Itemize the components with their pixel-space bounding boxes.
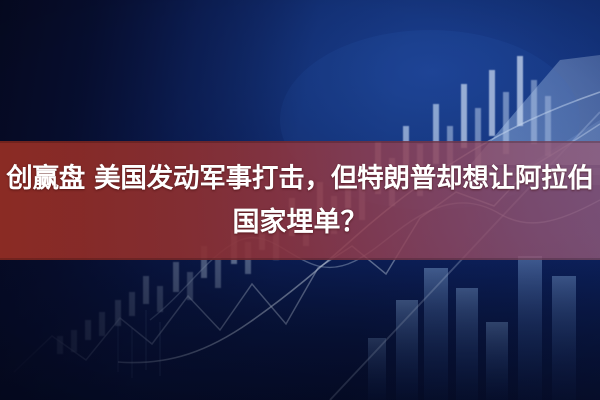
- headline-line-2: 国家埋单？: [233, 201, 368, 245]
- headline-line-1: 创赢盘 美国发动军事打击，但特朗普却想让阿拉伯: [6, 157, 594, 201]
- headline-text-block: 创赢盘 美国发动军事打击，但特朗普却想让阿拉伯 国家埋单？: [0, 141, 600, 260]
- news-thumbnail-banner: 创赢盘 美国发动军事打击，但特朗普却想让阿拉伯 国家埋单？: [0, 0, 600, 400]
- background-bar-series: [368, 256, 576, 400]
- candlestick-series-faint: [118, 310, 160, 378]
